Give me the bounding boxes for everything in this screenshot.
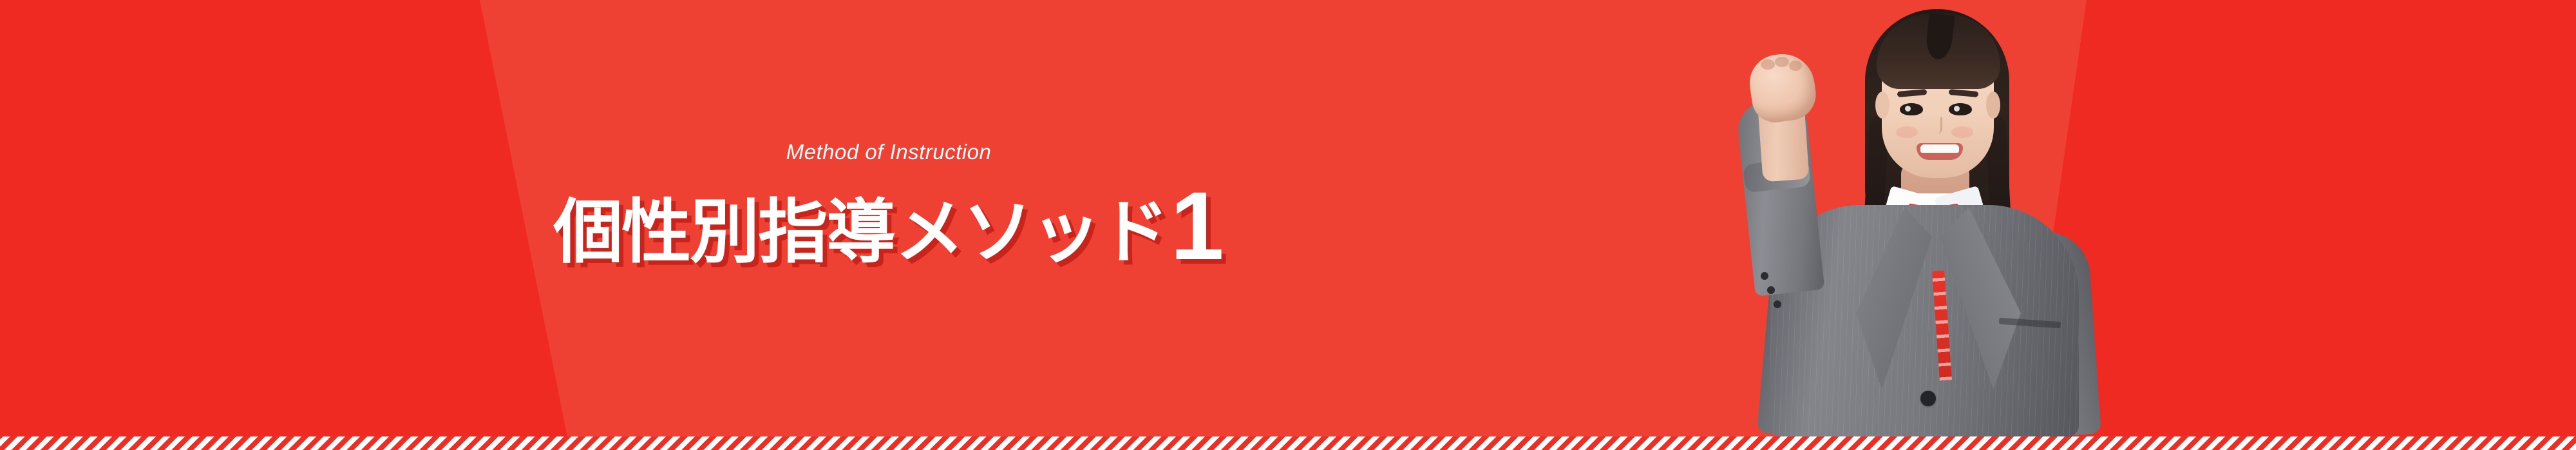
nose [1932, 117, 1942, 134]
headline-number: 1 [1170, 184, 1224, 268]
cuff-button-1 [1761, 272, 1768, 280]
cuff-button-3 [1774, 300, 1781, 308]
cheek-right [1951, 126, 1973, 138]
headline-japanese: 個性別指導メソッド [553, 198, 1168, 268]
teeth [1920, 144, 1959, 153]
knuckle-3 [1789, 61, 1802, 71]
knuckle-2 [1775, 57, 1789, 67]
knuckle-1 [1761, 59, 1775, 70]
ear-left [1875, 92, 1889, 119]
cheek-left [1896, 126, 1918, 138]
eye-left [1900, 103, 1923, 115]
eye-highlight-left [1905, 106, 1911, 112]
banner-copy: Method of Instruction 個性別指導メソッド 1 [0, 0, 1777, 426]
eye-right [1949, 103, 1972, 115]
banner-eyebrow: Method of Instruction [786, 141, 992, 162]
bottom-stripe-band [0, 436, 2576, 450]
ear-right [1986, 92, 2000, 119]
cuff-button-2 [1767, 286, 1775, 294]
banner-headline: 個性別指導メソッド 1 [553, 184, 1224, 268]
jacket-button [1920, 391, 1936, 406]
method-banner: Method of Instruction 個性別指導メソッド 1 [0, 0, 2576, 450]
eye-highlight-right [1954, 106, 1960, 112]
presenter-photo [1739, 0, 2190, 436]
